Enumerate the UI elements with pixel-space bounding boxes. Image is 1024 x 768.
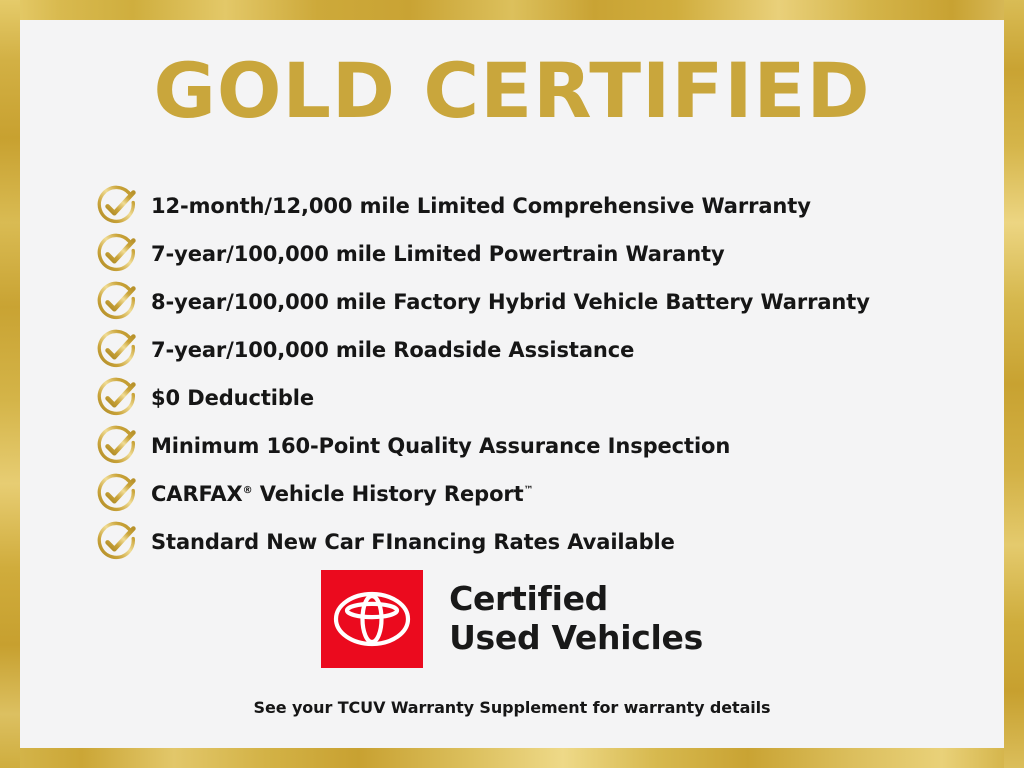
list-item: CARFAX® Vehicle History Report™ (95, 470, 994, 518)
gold-certified-certificate: GOLD CERTIFIED 12-month/12,000 mile Limi… (0, 0, 1024, 768)
benefit-label: 7-year/100,000 mile Limited Powertrain W… (151, 244, 725, 265)
lockup-line-1: Certified (449, 580, 703, 619)
check-circle-icon (95, 520, 139, 564)
check-circle-icon (95, 424, 139, 468)
carfax-report-text: Vehicle History Report (253, 482, 524, 506)
benefit-label: 12-month/12,000 mile Limited Comprehensi… (151, 196, 811, 217)
page-title: GOLD CERTIFIED (20, 20, 1004, 129)
benefit-label-carfax: CARFAX® Vehicle History Report™ (151, 484, 534, 505)
check-circle-icon (95, 232, 139, 276)
list-item: Standard New Car FInancing Rates Availab… (95, 518, 994, 566)
frame-border-bottom (0, 748, 1024, 768)
benefit-label: Standard New Car FInancing Rates Availab… (151, 532, 675, 553)
list-item: 7-year/100,000 mile Limited Powertrain W… (95, 230, 994, 278)
frame-border-right (1004, 0, 1024, 768)
benefit-label: Minimum 160-Point Quality Assurance Insp… (151, 436, 730, 457)
lockup-wordmark: Certified Used Vehicles (449, 580, 703, 657)
list-item: Minimum 160-Point Quality Assurance Insp… (95, 422, 994, 470)
check-circle-icon (95, 280, 139, 324)
frame-border-top (0, 0, 1024, 20)
lockup-line-2: Used Vehicles (449, 619, 703, 658)
check-circle-icon (95, 376, 139, 420)
benefits-list: 12-month/12,000 mile Limited Comprehensi… (95, 182, 994, 566)
registered-mark: ® (243, 485, 253, 496)
toyota-emblem-icon (333, 591, 411, 647)
list-item: 12-month/12,000 mile Limited Comprehensi… (95, 182, 994, 230)
benefit-label: 8-year/100,000 mile Factory Hybrid Vehic… (151, 292, 870, 313)
toyota-certified-used-vehicles-lockup: Certified Used Vehicles (20, 570, 1004, 668)
list-item: $0 Deductible (95, 374, 994, 422)
warranty-disclaimer: See your TCUV Warranty Supplement for wa… (20, 698, 1004, 717)
certificate-panel: GOLD CERTIFIED 12-month/12,000 mile Limi… (20, 20, 1004, 748)
check-circle-icon (95, 472, 139, 516)
list-item: 7-year/100,000 mile Roadside Assistance (95, 326, 994, 374)
list-item: 8-year/100,000 mile Factory Hybrid Vehic… (95, 278, 994, 326)
carfax-wordmark: CARFAX (151, 482, 243, 506)
frame-border-left (0, 0, 20, 768)
toyota-logo-badge (321, 570, 423, 668)
trademark-mark: ™ (524, 485, 534, 496)
check-circle-icon (95, 184, 139, 228)
check-circle-icon (95, 328, 139, 372)
benefit-label: 7-year/100,000 mile Roadside Assistance (151, 340, 634, 361)
benefit-label: $0 Deductible (151, 388, 314, 409)
